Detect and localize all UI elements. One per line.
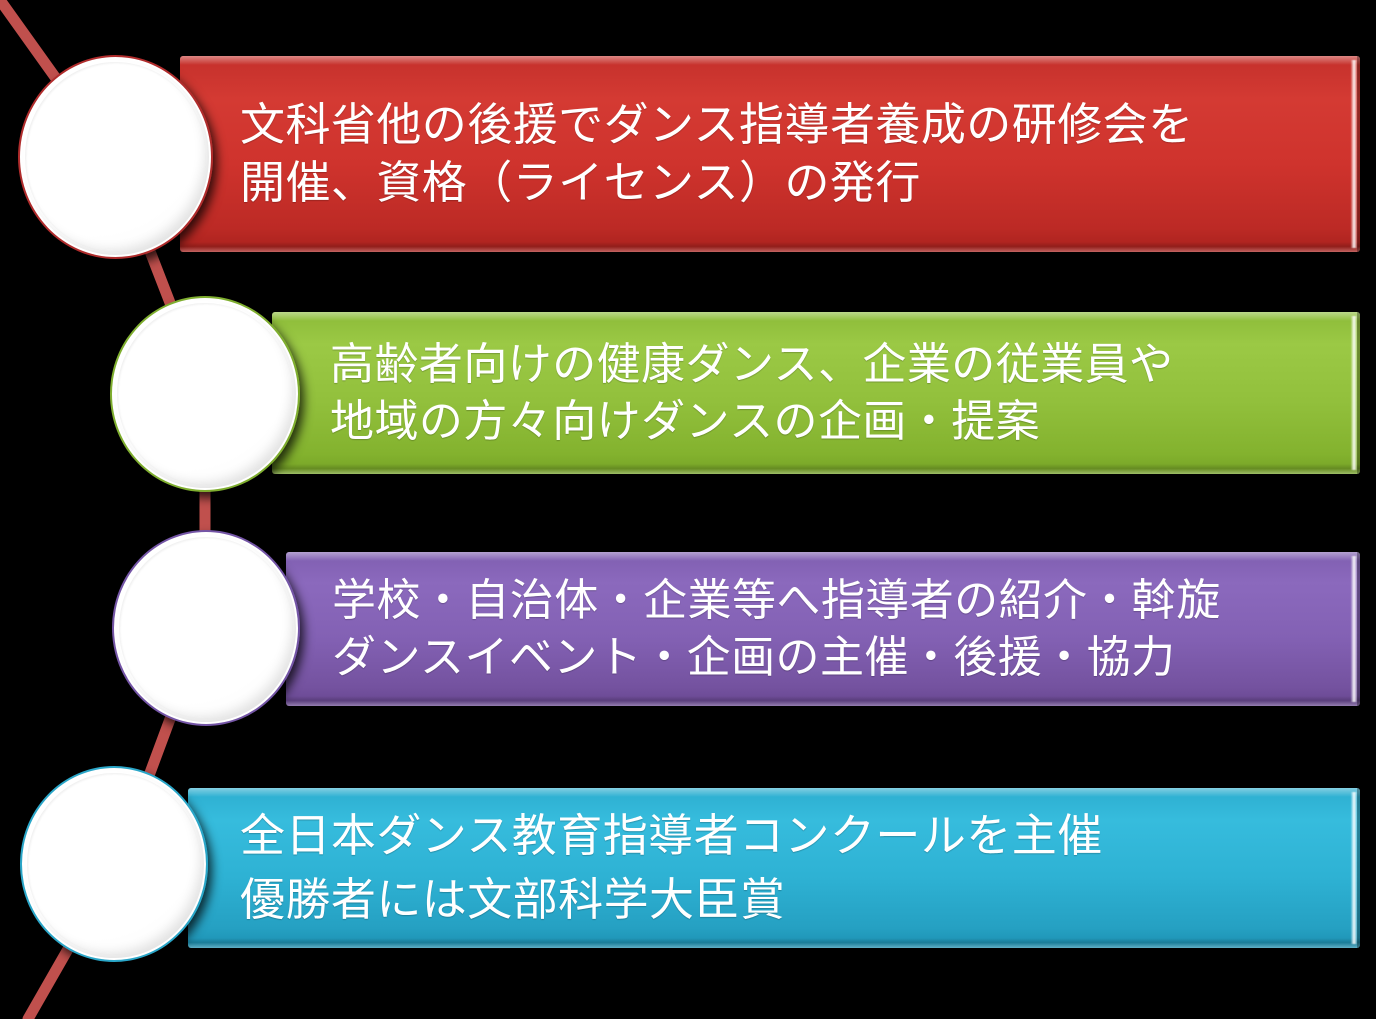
step-bar-2[interactable]: 高齢者向けの健康ダンス、企業の従業員や 地域の方々向けダンスの企画・提案 xyxy=(272,312,1360,474)
step-bar-4-label: 全日本ダンス教育指導者コンクールを主催 優勝者には文部科学大臣賞 xyxy=(240,804,1103,932)
step-bar-1-bevel xyxy=(1344,56,1360,252)
step-marker-1[interactable] xyxy=(18,55,213,259)
step-marker-2[interactable] xyxy=(110,296,300,492)
step-bar-3[interactable]: 学校・自治体・企業等へ指導者の紹介・斡旋 ダンスイベント・企画の主催・後援・協力 xyxy=(286,552,1360,706)
step-marker-3[interactable] xyxy=(112,530,300,726)
step-marker-4-ring xyxy=(27,773,201,955)
step-bar-1[interactable]: 文科省他の後援でダンス指導者養成の研修会を 開催、資格（ライセンス）の発行 xyxy=(180,56,1360,252)
step-bar-2-label: 高齢者向けの健康ダンス、企業の従業員や 地域の方々向けダンスの企画・提案 xyxy=(330,336,1173,450)
step-bar-3-label: 学校・自治体・企業等へ指導者の紹介・斡旋 ダンスイベント・企画の主催・後援・協力 xyxy=(332,572,1221,686)
step-bar-3-bevel xyxy=(1344,552,1360,706)
step-bar-1-label: 文科省他の後援でダンス指導者養成の研修会を 開催、資格（ライセンス）の発行 xyxy=(240,96,1194,213)
diagram-canvas: 文科省他の後援でダンス指導者養成の研修会を 開催、資格（ライセンス）の発行 高齢… xyxy=(0,0,1376,1019)
step-bar-4-bevel xyxy=(1344,788,1360,948)
step-marker-2-ring xyxy=(117,303,293,485)
step-bar-4[interactable]: 全日本ダンス教育指導者コンクールを主催 優勝者には文部科学大臣賞 xyxy=(188,788,1360,948)
step-bar-2-bevel xyxy=(1344,312,1360,474)
step-marker-1-ring xyxy=(25,62,206,252)
step-marker-3-ring xyxy=(119,537,293,719)
step-marker-4[interactable] xyxy=(20,766,208,962)
